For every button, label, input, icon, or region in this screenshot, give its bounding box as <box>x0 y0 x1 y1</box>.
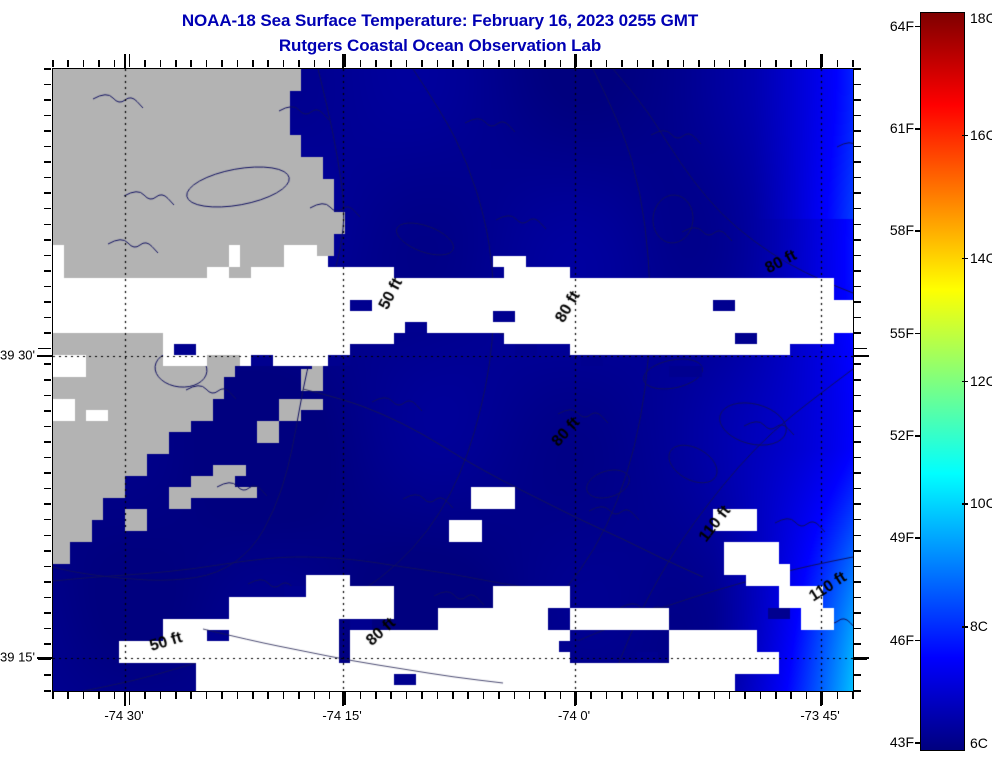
x-tick-major <box>342 54 344 68</box>
y-tick <box>854 550 861 552</box>
y-tick <box>44 239 51 241</box>
colorbar-tick <box>915 230 921 232</box>
x-tick <box>298 692 300 699</box>
x-tick <box>837 692 839 699</box>
y-tick <box>854 255 861 257</box>
colorbar <box>920 12 965 751</box>
colorbar-tick <box>962 626 968 628</box>
x-tick <box>606 60 608 67</box>
colorbar-label-f: 55F <box>872 325 914 341</box>
x-tick <box>606 692 608 699</box>
y-tick <box>44 363 51 365</box>
y-tick <box>44 503 51 505</box>
x-tick <box>267 692 269 699</box>
x-tick <box>298 60 300 67</box>
y-tick <box>44 379 51 381</box>
colorbar-label-f: 64F <box>872 18 914 34</box>
y-tick <box>854 332 861 334</box>
x-tick <box>621 60 623 67</box>
x-tick <box>114 692 116 699</box>
x-tick <box>544 60 546 67</box>
x-tick <box>744 60 746 67</box>
y-tick <box>44 130 51 132</box>
y-tick <box>44 597 51 599</box>
y-tick <box>44 99 51 101</box>
y-axis-label: 39 30' <box>0 348 34 363</box>
x-tick <box>83 692 85 699</box>
y-tick <box>44 488 51 490</box>
y-tick <box>854 597 861 599</box>
x-tick <box>667 692 669 699</box>
x-tick <box>283 692 285 699</box>
title-line-2: Rutgers Coastal Ocean Observation Lab <box>0 33 880 58</box>
y-tick <box>44 317 51 319</box>
y-tick <box>854 581 861 583</box>
x-tick <box>714 60 716 67</box>
x-tick <box>98 692 100 699</box>
y-tick <box>854 674 861 676</box>
x-tick <box>852 692 854 699</box>
x-tick <box>190 60 192 67</box>
x-tick <box>129 54 131 67</box>
colorbar-label-f: 46F <box>872 632 914 648</box>
y-tick <box>854 395 861 397</box>
y-tick <box>854 519 861 521</box>
colorbar-tick <box>915 537 921 539</box>
y-tick <box>854 643 861 645</box>
x-tick <box>406 60 408 67</box>
x-tick <box>790 692 792 699</box>
y-tick <box>854 410 861 412</box>
y-tick <box>44 224 51 226</box>
y-tick <box>854 270 861 272</box>
x-tick <box>621 692 623 699</box>
x-tick <box>206 60 208 67</box>
colorbar-tick <box>915 333 921 335</box>
x-tick <box>375 692 377 699</box>
x-tick <box>390 60 392 67</box>
y-tick <box>854 99 861 101</box>
x-tick <box>806 692 808 699</box>
y-tick <box>854 628 861 630</box>
x-tick <box>452 60 454 67</box>
colorbar-label-f: 49F <box>872 529 914 545</box>
y-tick <box>854 488 861 490</box>
y-tick-major <box>854 657 869 659</box>
y-tick <box>854 115 861 117</box>
x-tick <box>760 60 762 67</box>
x-tick <box>529 60 531 67</box>
y-tick <box>44 301 51 303</box>
title-line-1: NOAA-18 Sea Surface Temperature: Februar… <box>0 8 880 33</box>
colorbar-tick <box>915 640 921 642</box>
x-tick <box>467 60 469 67</box>
x-tick <box>560 692 562 699</box>
y-tick <box>854 68 861 70</box>
x-tick <box>483 692 485 699</box>
page-title: NOAA-18 Sea Surface Temperature: Februar… <box>0 8 880 58</box>
x-tick-major <box>342 692 344 706</box>
y-tick <box>854 84 861 86</box>
x-axis-label: -74 15' <box>322 708 361 723</box>
x-tick <box>221 60 223 67</box>
y-tick <box>44 332 51 334</box>
x-tick <box>637 692 639 699</box>
x-tick <box>360 60 362 67</box>
y-tick <box>44 192 51 194</box>
colorbar-label-c: 16C <box>970 127 992 143</box>
y-tick <box>44 612 51 614</box>
x-tick <box>714 692 716 699</box>
y-tick <box>854 363 861 365</box>
x-tick <box>590 60 592 67</box>
y-tick <box>854 457 861 459</box>
x-tick <box>560 60 562 67</box>
y-tick <box>44 395 51 397</box>
x-tick <box>652 60 654 67</box>
y-axis-label: 39 15' <box>0 650 34 665</box>
x-tick <box>283 60 285 67</box>
x-tick <box>237 60 239 67</box>
sst-map-plot <box>52 68 854 692</box>
colorbar-label-c: 6C <box>970 735 988 751</box>
x-axis-label: -74 30' <box>104 708 143 723</box>
x-tick <box>544 692 546 699</box>
y-tick <box>854 239 861 241</box>
x-tick <box>375 60 377 67</box>
y-tick <box>854 426 861 428</box>
y-tick <box>854 659 867 661</box>
y-tick <box>854 472 861 474</box>
colorbar-label-f: 61F <box>872 120 914 136</box>
x-tick <box>852 60 854 67</box>
x-tick <box>437 692 439 699</box>
x-axis-label: -73 45' <box>800 708 839 723</box>
colorbar-label-c: 8C <box>970 618 988 634</box>
y-tick <box>854 192 861 194</box>
x-tick-major <box>820 54 822 68</box>
x-tick <box>52 60 54 67</box>
y-tick <box>44 68 51 70</box>
y-tick <box>44 410 51 412</box>
y-tick-major <box>854 355 869 357</box>
y-tick <box>44 441 51 443</box>
x-tick <box>237 692 239 699</box>
x-tick <box>206 692 208 699</box>
y-tick <box>854 208 861 210</box>
colorbar-tick <box>915 742 921 744</box>
x-tick <box>344 54 346 67</box>
x-tick-major <box>124 54 126 68</box>
x-tick <box>452 692 454 699</box>
y-tick <box>44 457 51 459</box>
x-tick <box>344 692 346 705</box>
colorbar-label-f: 43F <box>872 734 914 750</box>
colorbar-tick <box>962 381 968 383</box>
y-tick <box>44 566 51 568</box>
x-tick-major <box>820 692 822 706</box>
y-tick <box>44 255 51 257</box>
y-tick <box>854 503 861 505</box>
x-tick <box>437 60 439 67</box>
x-axis-label: -74 0' <box>558 708 590 723</box>
y-tick <box>44 690 51 692</box>
colorbar-gradient <box>921 13 964 750</box>
y-tick <box>854 317 861 319</box>
y-tick <box>44 208 51 210</box>
y-tick <box>854 224 861 226</box>
x-tick <box>267 60 269 67</box>
colorbar-label-f: 58F <box>872 222 914 238</box>
colorbar-tick <box>915 128 921 130</box>
y-tick-major <box>37 657 52 659</box>
y-tick-major <box>37 355 52 357</box>
x-tick <box>52 692 54 699</box>
x-tick <box>421 692 423 699</box>
colorbar-label-c: 10C <box>970 495 992 511</box>
x-tick <box>160 60 162 67</box>
y-tick <box>854 161 861 163</box>
colorbar-label-f: 52F <box>872 427 914 443</box>
colorbar-tick <box>915 26 921 28</box>
x-tick-major <box>124 692 126 706</box>
y-tick <box>854 348 867 350</box>
x-tick <box>514 60 516 67</box>
x-tick <box>790 60 792 67</box>
y-tick <box>44 115 51 117</box>
y-tick <box>854 286 861 288</box>
colorbar-tick <box>962 258 968 260</box>
x-tick <box>175 692 177 699</box>
y-tick <box>854 566 861 568</box>
x-tick <box>406 692 408 699</box>
y-tick <box>44 146 51 148</box>
x-tick <box>837 60 839 67</box>
y-tick <box>44 472 51 474</box>
x-tick <box>144 692 146 699</box>
x-tick <box>498 692 500 699</box>
y-tick <box>854 301 861 303</box>
x-tick <box>775 60 777 67</box>
colorbar-tick <box>962 135 968 137</box>
x-tick <box>698 60 700 67</box>
x-tick <box>729 60 731 67</box>
x-tick-major <box>574 692 576 706</box>
x-tick-major <box>574 54 576 68</box>
x-tick <box>190 692 192 699</box>
x-tick <box>637 60 639 67</box>
x-tick <box>360 692 362 699</box>
x-tick <box>529 692 531 699</box>
y-tick <box>854 535 861 537</box>
y-tick <box>854 177 861 179</box>
colorbar-label-c: 12C <box>970 373 992 389</box>
x-tick <box>314 692 316 699</box>
y-tick <box>44 550 51 552</box>
y-tick <box>44 286 51 288</box>
x-tick <box>421 60 423 67</box>
y-tick <box>38 659 51 661</box>
x-tick <box>683 692 685 699</box>
x-tick <box>667 60 669 67</box>
x-tick <box>98 60 100 67</box>
x-tick <box>652 692 654 699</box>
x-tick <box>683 60 685 67</box>
y-tick <box>44 426 51 428</box>
y-tick <box>44 535 51 537</box>
y-tick <box>854 379 861 381</box>
y-tick <box>44 84 51 86</box>
x-tick <box>483 60 485 67</box>
y-tick <box>44 674 51 676</box>
x-tick <box>698 692 700 699</box>
y-tick <box>44 581 51 583</box>
y-tick <box>854 441 861 443</box>
x-tick <box>760 692 762 699</box>
x-tick <box>775 692 777 699</box>
x-tick <box>83 60 85 67</box>
x-tick <box>175 60 177 67</box>
x-tick <box>67 692 69 699</box>
x-tick <box>467 692 469 699</box>
x-tick <box>67 60 69 67</box>
x-tick <box>314 60 316 67</box>
colorbar-tick <box>962 503 968 505</box>
x-tick <box>114 60 116 67</box>
y-tick <box>854 690 861 692</box>
x-tick <box>390 692 392 699</box>
x-tick <box>498 60 500 67</box>
y-tick <box>854 146 861 148</box>
x-tick <box>221 692 223 699</box>
colorbar-label-c: 14C <box>970 250 992 266</box>
y-tick <box>38 348 51 350</box>
x-tick <box>252 60 254 67</box>
x-tick <box>129 692 131 705</box>
y-tick <box>44 519 51 521</box>
x-tick <box>744 692 746 699</box>
y-tick <box>44 643 51 645</box>
colorbar-label-c: 18C <box>970 10 992 26</box>
x-tick <box>806 60 808 67</box>
colorbar-tick <box>915 435 921 437</box>
x-tick <box>160 692 162 699</box>
y-tick <box>44 628 51 630</box>
y-tick <box>854 612 861 614</box>
x-tick <box>144 60 146 67</box>
y-tick <box>44 270 51 272</box>
y-tick <box>44 177 51 179</box>
y-tick <box>854 130 861 132</box>
x-tick <box>729 692 731 699</box>
x-tick <box>590 692 592 699</box>
x-tick <box>329 60 331 67</box>
y-tick <box>44 161 51 163</box>
sst-raster <box>53 69 853 691</box>
x-tick <box>329 692 331 699</box>
x-tick <box>252 692 254 699</box>
x-tick <box>514 692 516 699</box>
